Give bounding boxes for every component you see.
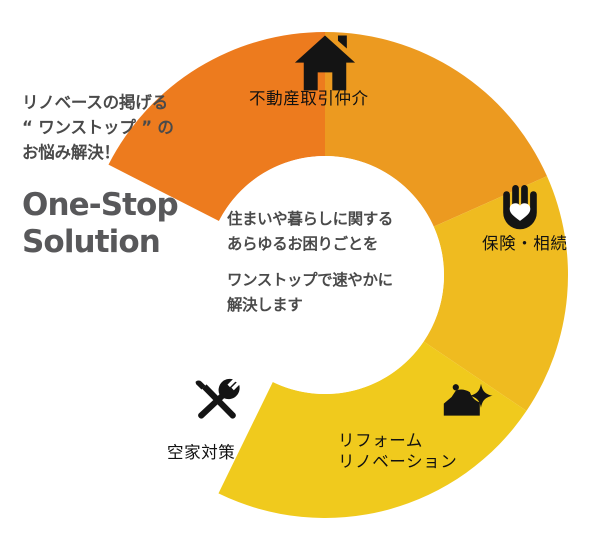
slice-label-vacant-house[interactable]: 空家対策 — [167, 442, 235, 463]
slice-label-insurance-inheritance[interactable]: 保険・相続 — [482, 233, 568, 254]
center-paragraph1-line1: 住まいや暮らしに関する — [227, 207, 442, 232]
brand-title-line-1: One-Stop — [22, 187, 237, 224]
slice-label-reform-renovation[interactable]: リフォーム リノベーション — [338, 430, 457, 473]
slice-label-vacant-house-line-1: 空家対策 — [167, 442, 235, 463]
page-title: One-Stop Solution — [22, 187, 237, 260]
lead-line-2: “ ワンストップ ” の — [22, 115, 237, 140]
center-paragraph2-line1: ワンストップで速やかに — [227, 268, 442, 293]
lead-line-3: お悩み解決！ — [22, 140, 237, 165]
hammer-wrench-icon — [196, 379, 240, 419]
slice-label-real-estate[interactable]: 不動産取引仲介 — [249, 88, 369, 109]
slice-label-real-estate-line-1: 不動産取引仲介 — [249, 88, 369, 109]
center-copy-block: 住まいや暮らしに関する あらゆるお困りごとを ワンストップで速やかに 解決します — [227, 207, 442, 318]
brand-title-line-2: Solution — [22, 224, 237, 261]
left-copy-block: リノベースの掲げる “ ワンストップ ” の お悩み解決！ One-Stop S… — [22, 90, 237, 260]
lead-line-1: リノベースの掲げる — [22, 90, 237, 115]
center-paragraph2-line2: 解決します — [227, 293, 442, 318]
slice-label-insurance-inheritance-line-1: 保険・相続 — [482, 233, 568, 254]
slice-label-reform-renovation-line-1: リフォーム — [338, 430, 457, 451]
center-paragraph1-line2: あらゆるお困りごとを — [227, 232, 442, 257]
slice-label-reform-renovation-line-2: リノベーション — [338, 451, 457, 472]
